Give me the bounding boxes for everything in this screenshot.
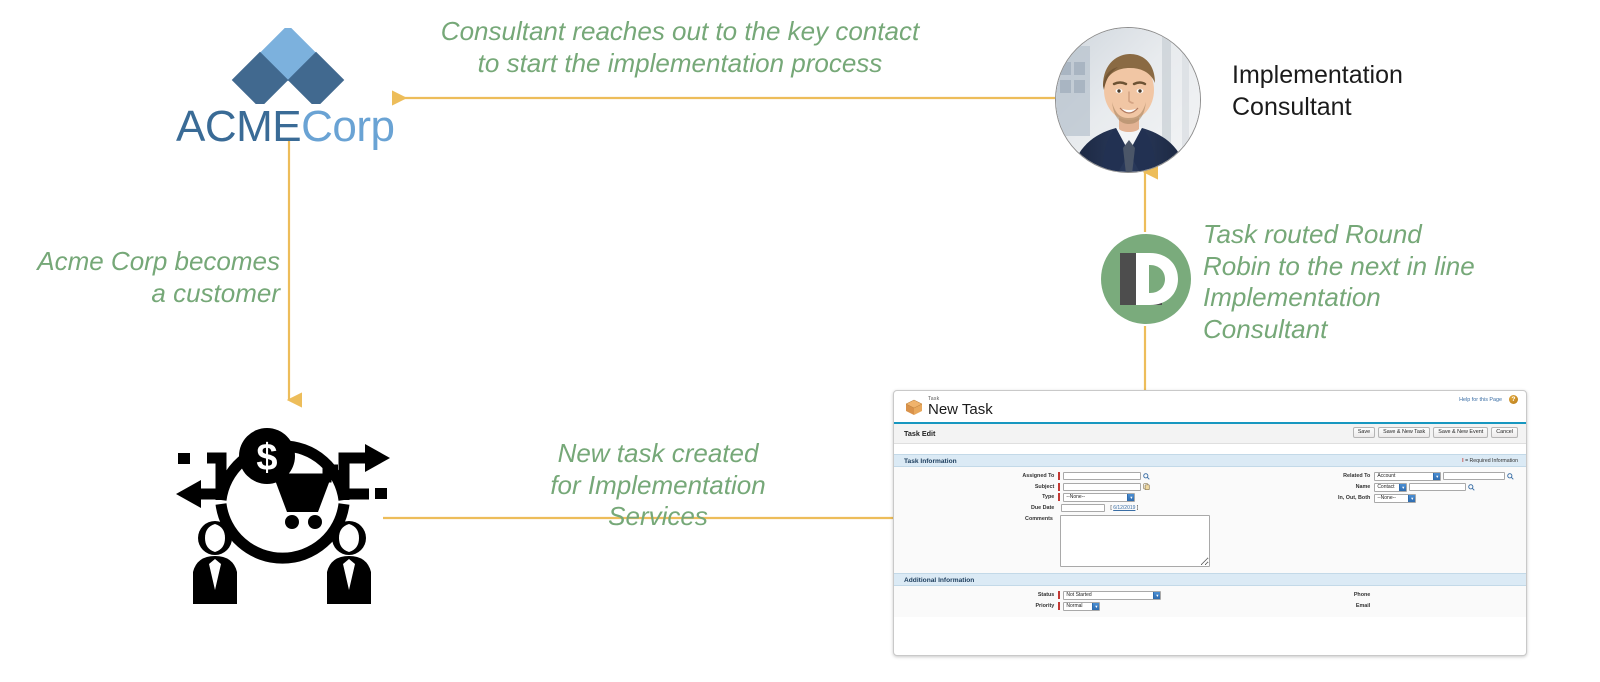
field-label: Due Date <box>894 504 1058 512</box>
field-comments: Comments <box>894 515 1210 567</box>
priority-select[interactable]: Normal ▾ <box>1063 602 1100 611</box>
name-lookup-input[interactable] <box>1409 483 1466 491</box>
comments-textarea[interactable] <box>1060 515 1210 567</box>
section-header-additional-information: Additional Information <box>894 573 1526 586</box>
field-priority: Priority Normal ▾ <box>894 602 1210 611</box>
help-for-this-page-link[interactable]: Help for this Page <box>1459 397 1502 403</box>
save-and-new-task-button[interactable]: Save & New Task <box>1378 427 1430 438</box>
type-select-value: --None-- <box>1066 493 1085 502</box>
save-and-new-event-button[interactable]: Save & New Event <box>1433 427 1488 438</box>
field-subject: Subject <box>894 483 1210 491</box>
in-out-both-select-value: --None-- <box>1377 494 1396 503</box>
three-diamonds-icon <box>176 28 402 104</box>
cancel-button[interactable]: Cancel <box>1491 427 1518 438</box>
field-type: Type --None-- ▾ <box>894 493 1210 502</box>
field-label: Related To <box>1210 472 1374 480</box>
caption-new-task-created: New task created for Implementation Serv… <box>498 438 818 533</box>
lookup-search-icon[interactable] <box>1468 484 1475 491</box>
section-title: Additional Information <box>904 577 974 584</box>
help-question-icon[interactable]: ? <box>1509 395 1518 404</box>
field-name: Name Contact ▾ <box>1210 483 1526 492</box>
type-select[interactable]: --None-- ▾ <box>1063 493 1135 502</box>
additional-information-body: Status Not Started ▾ Priority <box>894 586 1526 617</box>
task-edit-toolbar: Task Edit Save Save & New Task Save & Ne… <box>894 424 1526 444</box>
required-bar <box>1058 591 1060 599</box>
salesforce-new-task-form[interactable]: Task New Task Help for this Page ? Task … <box>893 390 1527 656</box>
subject-picklist-icon[interactable] <box>1143 483 1150 490</box>
in-out-both-select[interactable]: --None-- ▾ <box>1374 494 1416 503</box>
field-label: Email <box>1210 602 1374 610</box>
svg-text:$: $ <box>256 437 277 479</box>
additional-info-left-column: Status Not Started ▾ Priority <box>894 586 1210 617</box>
name-object-select[interactable]: Contact ▾ <box>1374 483 1407 492</box>
field-related-to: Related To Account ▾ <box>1210 472 1526 481</box>
field-due-date: Due Date [ 6/12/2019 ] <box>894 504 1210 512</box>
required-bar <box>1058 483 1060 491</box>
status-select-value: Not Started <box>1066 591 1091 600</box>
due-date-today-hint: [ 6/12/2019 ] <box>1110 505 1138 511</box>
form-action-buttons: Save Save & New Task Save & New Event Ca… <box>1353 427 1518 438</box>
field-label: Comments <box>894 515 1057 523</box>
section-header-task-information: Task Information I = Required Informatio… <box>894 454 1526 467</box>
field-label: Assigned To <box>894 472 1058 480</box>
consultant-headshot-avatar <box>1055 27 1201 173</box>
caption-consultant-outreach: Consultant reaches out to the key contac… <box>430 16 930 79</box>
task-info-left-column: Assigned To Subject <box>894 467 1210 573</box>
acme-name-secondary: Corp <box>301 102 394 151</box>
caption-becomes-customer: Acme Corp becomes a customer <box>10 246 280 309</box>
field-label: In, Out, Both <box>1210 494 1374 502</box>
form-page-title: New Task <box>928 401 993 418</box>
chevron-down-icon[interactable]: ▾ <box>1433 473 1440 480</box>
today-date-link[interactable]: 6/12/2019 <box>1113 505 1135 511</box>
required-marker: I <box>1462 458 1463 464</box>
additional-info-right-column: Phone Email <box>1210 586 1526 617</box>
field-status: Status Not Started ▾ <box>894 591 1210 600</box>
related-to-lookup-input[interactable] <box>1443 472 1505 480</box>
acme-corp-logo: ACMECorp <box>176 28 402 140</box>
chevron-down-icon[interactable]: ▾ <box>1399 484 1406 491</box>
field-assigned-to: Assigned To <box>894 472 1210 480</box>
field-email: Email <box>1210 602 1526 610</box>
diagram-canvas: ACMECorp Consultant reaches out to the k… <box>0 0 1600 682</box>
caption-round-robin-routing: Task routed Round Robin to the next in l… <box>1203 219 1483 346</box>
chevron-down-icon[interactable]: ▾ <box>1153 592 1160 599</box>
field-label: Subject <box>894 483 1058 491</box>
required-bar <box>1058 472 1060 480</box>
task-information-body: Assigned To Subject <box>894 467 1526 573</box>
save-button[interactable]: Save <box>1353 427 1375 438</box>
field-in-out-both: In, Out, Both --None-- ▾ <box>1210 494 1526 503</box>
header-spacer <box>894 444 1526 454</box>
field-label: Type <box>894 493 1058 501</box>
required-bar <box>1058 602 1060 610</box>
status-select[interactable]: Not Started ▾ <box>1063 591 1161 600</box>
required-bar <box>1058 493 1060 501</box>
chevron-down-icon[interactable]: ▾ <box>1408 495 1415 502</box>
task-cube-icon <box>904 398 924 417</box>
field-label: Phone <box>1210 591 1374 599</box>
field-phone: Phone <box>1210 591 1526 599</box>
required-information-note: I = Required Information <box>1462 458 1518 464</box>
form-header: Task New Task Help for this Page ? <box>894 391 1526 424</box>
field-label: Name <box>1210 483 1374 491</box>
assigned-to-input[interactable] <box>1063 472 1141 480</box>
due-date-input[interactable] <box>1061 504 1105 512</box>
distribution-engine-logo <box>1100 233 1192 325</box>
acme-name-primary: ACME <box>176 102 301 151</box>
related-to-select-value: Account <box>1377 472 1395 481</box>
consultant-role-label: Implementation Consultant <box>1232 60 1482 123</box>
task-edit-label: Task Edit <box>904 429 935 438</box>
priority-select-value: Normal <box>1066 602 1082 611</box>
chevron-down-icon[interactable]: ▾ <box>1127 494 1134 501</box>
acme-corp-wordmark: ACMECorp <box>176 102 402 152</box>
name-select-value: Contact <box>1377 483 1394 492</box>
related-to-object-select[interactable]: Account ▾ <box>1374 472 1441 481</box>
field-label: Priority <box>894 602 1058 610</box>
task-info-right-column: Related To Account ▾ <box>1210 467 1526 573</box>
lookup-search-icon[interactable] <box>1143 473 1150 480</box>
section-title: Task Information <box>904 458 957 465</box>
field-label: Status <box>894 591 1058 599</box>
commerce-cycle-cart-people-icon: $ <box>175 412 390 604</box>
subject-input[interactable] <box>1063 483 1141 491</box>
lookup-search-icon[interactable] <box>1507 473 1514 480</box>
chevron-down-icon[interactable]: ▾ <box>1092 603 1099 610</box>
